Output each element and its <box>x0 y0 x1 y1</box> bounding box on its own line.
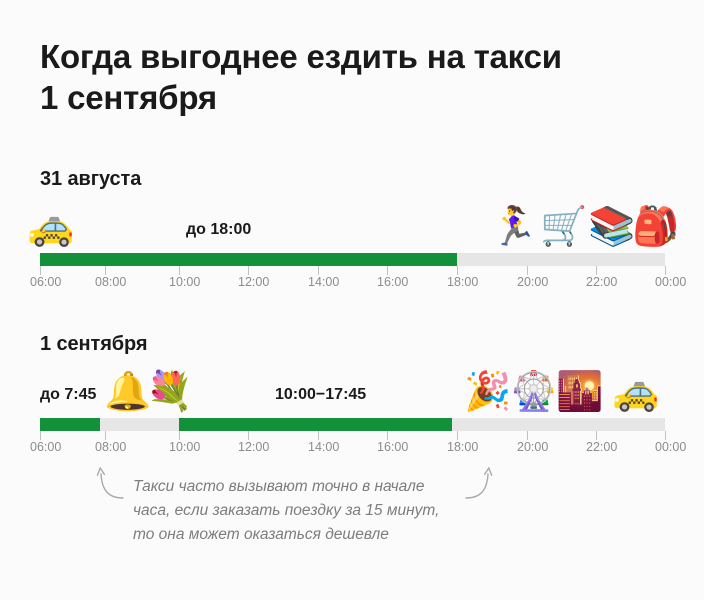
axis-tick <box>387 266 388 275</box>
backpack-emoji: 🎒 <box>632 200 678 252</box>
range-label-1000-to-1745: 10:00−17:45 <box>275 385 366 405</box>
taxi-emoji: 🚕 <box>612 365 658 417</box>
annotation-block: Такси часто вызывают точно в начале часа… <box>0 440 704 560</box>
annotation-line-3: то она может оказаться дешевле <box>133 523 463 547</box>
arrow-left-curve <box>101 474 123 498</box>
axis-tick <box>179 266 180 275</box>
axis-tick <box>387 431 388 440</box>
axis-tick <box>596 266 597 275</box>
infographic-page: Когда выгоднее ездить на такси 1 сентябр… <box>0 0 704 600</box>
shopping-cart-emoji: 🛒 <box>540 200 586 252</box>
axis-tick-label: 20:00 <box>517 275 548 290</box>
axis-tick <box>318 266 319 275</box>
axis-tick <box>665 431 666 440</box>
axis-tick-label: 22:00 <box>586 275 617 290</box>
bell-emoji: 🔔 <box>104 365 150 417</box>
axis-tick-label: 06:00 <box>30 275 61 290</box>
axis-tick <box>40 431 41 440</box>
annotation-line-1: Такси часто вызывают точно в начале <box>133 475 463 499</box>
books-emoji: 📚 <box>588 200 634 252</box>
arrow-right-head-b <box>489 468 492 475</box>
arrow-right-curve <box>466 474 488 498</box>
axis-tick-label: 18:00 <box>447 275 478 290</box>
taxi-emoji: 🚕 <box>27 200 73 252</box>
bouquet-emoji: 💐 <box>146 365 192 417</box>
page-title-line-2: 1 сентября <box>40 77 660 118</box>
axis-tick-label: 00:00 <box>655 275 686 290</box>
green-segment-before-745 <box>40 418 100 431</box>
green-segment-morning-to-18 <box>40 253 457 266</box>
arrow-left-head-a <box>97 468 100 475</box>
axis-tick <box>248 266 249 275</box>
ferris-wheel-emoji: 🎡 <box>510 365 556 417</box>
page-title: Когда выгоднее ездить на такси 1 сентябр… <box>40 36 660 118</box>
running-woman-emoji: 🏃‍♀️ <box>490 200 536 252</box>
axis-tick <box>179 431 180 440</box>
axis-tick <box>105 431 106 440</box>
axis-tick <box>457 266 458 275</box>
axis-tick <box>40 266 41 275</box>
axis-tick-label: 10:00 <box>169 275 200 290</box>
axis-tick-label: 08:00 <box>95 275 126 290</box>
axis-tick <box>596 431 597 440</box>
axis-tick <box>527 266 528 275</box>
timeline-axis: 06:00 08:00 10:00 12:00 14:00 16:00 18:0… <box>40 266 665 290</box>
axis-tick-label: 16:00 <box>377 275 408 290</box>
axis-tick <box>318 431 319 440</box>
section-heading: 31 августа <box>40 168 141 191</box>
green-segment-1000-to-1745 <box>179 418 452 431</box>
axis-tick <box>665 266 666 275</box>
timeline-bar <box>40 418 665 431</box>
annotation-text: Такси часто вызывают точно в начале часа… <box>133 475 463 547</box>
party-popper-emoji: 🎉 <box>464 365 510 417</box>
section-heading: 1 сентября <box>40 333 147 356</box>
page-title-line-1: Когда выгоднее ездить на такси <box>40 36 660 77</box>
axis-tick <box>527 431 528 440</box>
annotation-line-2: часа, если заказать поездку за 15 минут, <box>133 499 463 523</box>
cityscape-at-dusk-emoji: 🌇 <box>556 365 602 417</box>
axis-tick <box>105 266 106 275</box>
axis-tick-label: 14:00 <box>308 275 339 290</box>
axis-tick-label: 12:00 <box>238 275 269 290</box>
axis-tick <box>457 431 458 440</box>
timeline-bar <box>40 253 665 266</box>
range-label-until-745: до 7:45 <box>40 385 96 405</box>
axis-tick <box>248 431 249 440</box>
range-label-until-18: до 18:00 <box>186 220 251 240</box>
